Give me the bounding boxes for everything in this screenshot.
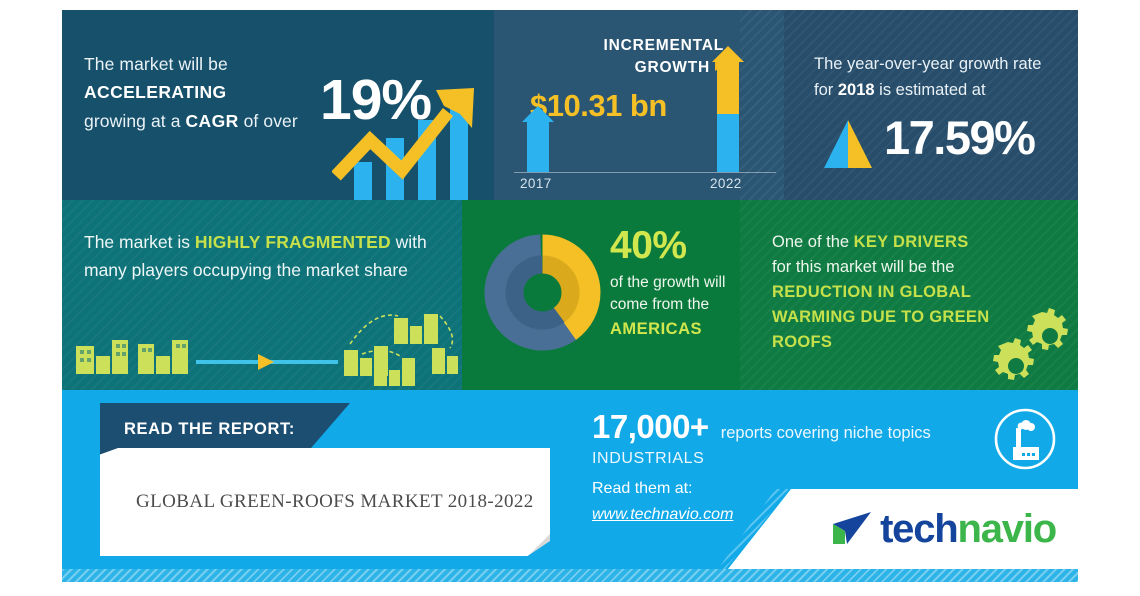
report-count: 17,000+ (592, 408, 709, 446)
report-title: GLOBAL GREEN-ROOFS MARKET 2018-2022 (100, 491, 534, 513)
logo-text-tech: tech (880, 507, 957, 551)
read-the-report-label: READ THE REPORT: (100, 420, 295, 439)
fragmentation-statement: The market is HIGHLY FRAGMENTED with man… (84, 228, 459, 284)
technavio-logo: technavio (831, 507, 1056, 552)
building-windows-left (80, 344, 186, 362)
incremental-growth-label: INCREMENTAL GROWTH (534, 35, 724, 80)
bar-2017-body (527, 122, 549, 172)
drivers-driver-bold: REDUCTION IN GLOBAL WARMING DUE TO GREEN… (772, 283, 989, 351)
drivers-line2: for this market will be the (772, 258, 954, 276)
footer-bottom-stripe (62, 569, 1078, 582)
cagr-line2-pre: growing at a (84, 111, 186, 131)
building-cluster-left-icon (76, 340, 188, 374)
logo-text-navio: navio (958, 507, 1056, 551)
report-count-row: 17,000+ reports covering niche topics (592, 408, 1012, 446)
americas-sub-line1: of the growth will (610, 274, 725, 291)
frag-line1-pre: The market is (84, 232, 195, 252)
technavio-mark-icon (831, 510, 873, 550)
americas-sub-line2: come from the (610, 296, 709, 313)
americas-region-label: AMERICAS (610, 320, 735, 339)
cagr-line2-post: of over (239, 111, 298, 131)
building-cluster-group-d-icon (432, 348, 458, 374)
row-middle-insights: The market is HIGHLY FRAGMENTED with man… (62, 200, 1078, 390)
bar-2022-arrowhead (712, 46, 744, 62)
building-cluster-group-b-icon (394, 314, 438, 344)
infographic-canvas: The market will be ACCELERATING growing … (0, 0, 1140, 596)
americas-share-text: 40% of the growth will come from the AME… (610, 226, 735, 339)
yoy-line2-bold: 2018 (838, 81, 875, 99)
panel-incremental-growth: INCREMENTAL GROWTH $10.31 bn 2017 2022 (494, 10, 784, 200)
cagr-bar-chart (352, 100, 497, 200)
report-count-caption: reports covering niche topics (721, 424, 931, 443)
panel-key-drivers: One of the KEY DRIVERS for this market w… (740, 200, 1078, 390)
bar-2022-incremental-segment (717, 62, 739, 114)
industry-label: INDUSTRIALS (592, 450, 1012, 468)
infographic-body: The market will be ACCELERATING growing … (62, 10, 1078, 582)
yoy-line2-pre: for (814, 81, 838, 99)
incremental-label-line2: GROWTH (635, 59, 710, 76)
axis-label-2017: 2017 (520, 176, 552, 191)
bar-2017 (522, 106, 554, 172)
incremental-label-line1: INCREMENTAL (604, 37, 724, 54)
row-footer: READ THE REPORT: GLOBAL GREEN-ROOFS MARK… (62, 390, 1078, 582)
americas-donut-chart (480, 230, 605, 355)
gears-icon (988, 306, 1068, 380)
cagr-line2-bold: CAGR (186, 111, 239, 131)
drivers-line1-bold: KEY DRIVERS (854, 233, 969, 251)
row-top-metrics: The market will be ACCELERATING growing … (62, 10, 1078, 200)
americas-subtext: of the growth will come from the (610, 272, 735, 317)
growth-arrow-icon (332, 84, 492, 194)
fragmentation-illustration (62, 304, 462, 390)
panel-fragmentation: The market is HIGHLY FRAGMENTED with man… (62, 200, 462, 390)
cagr-line1-pre: The market will be (84, 54, 228, 74)
factory-badge-icon (992, 406, 1058, 472)
bar-2022 (712, 46, 744, 172)
panel-americas-share: 40% of the growth will come from the AME… (462, 200, 740, 390)
americas-percent: 40% (610, 226, 735, 265)
frag-line1-post: with (391, 232, 427, 252)
technavio-wordmark: technavio (880, 507, 1056, 552)
panel-cagr: The market will be ACCELERATING growing … (62, 10, 494, 200)
up-triangle-icon (822, 120, 874, 168)
report-title-card[interactable]: GLOBAL GREEN-ROOFS MARKET 2018-2022 (100, 448, 550, 556)
frag-line2: many players occupying the market share (84, 260, 408, 280)
bar-2017-arrowhead (522, 106, 554, 122)
yoy-line2-post: is estimated at (875, 81, 986, 99)
drivers-line1-pre: One of the (772, 233, 854, 251)
fragmentation-arrowhead-icon (258, 354, 274, 370)
building-cluster-group-c-icon (374, 358, 415, 386)
frag-line1-bold: HIGHLY FRAGMENTED (195, 232, 391, 252)
card-fold-corner-icon (528, 534, 550, 556)
axis-label-2022: 2022 (710, 176, 742, 191)
yoy-statement: The year-over-year growth rate for 2018 … (814, 52, 1064, 103)
panel-yoy-growth: The year-over-year growth rate for 2018 … (784, 10, 1078, 200)
read-the-report-banner: READ THE REPORT: (100, 403, 350, 455)
technavio-url-link[interactable]: www.technavio.com (592, 506, 733, 524)
bar-2022-base-segment (717, 114, 739, 172)
cagr-line1-bold: ACCELERATING (84, 82, 227, 102)
yoy-line1: The year-over-year growth rate (814, 55, 1041, 73)
yoy-growth-value: 17.59% (884, 110, 1034, 165)
incremental-axis-line (514, 172, 776, 173)
